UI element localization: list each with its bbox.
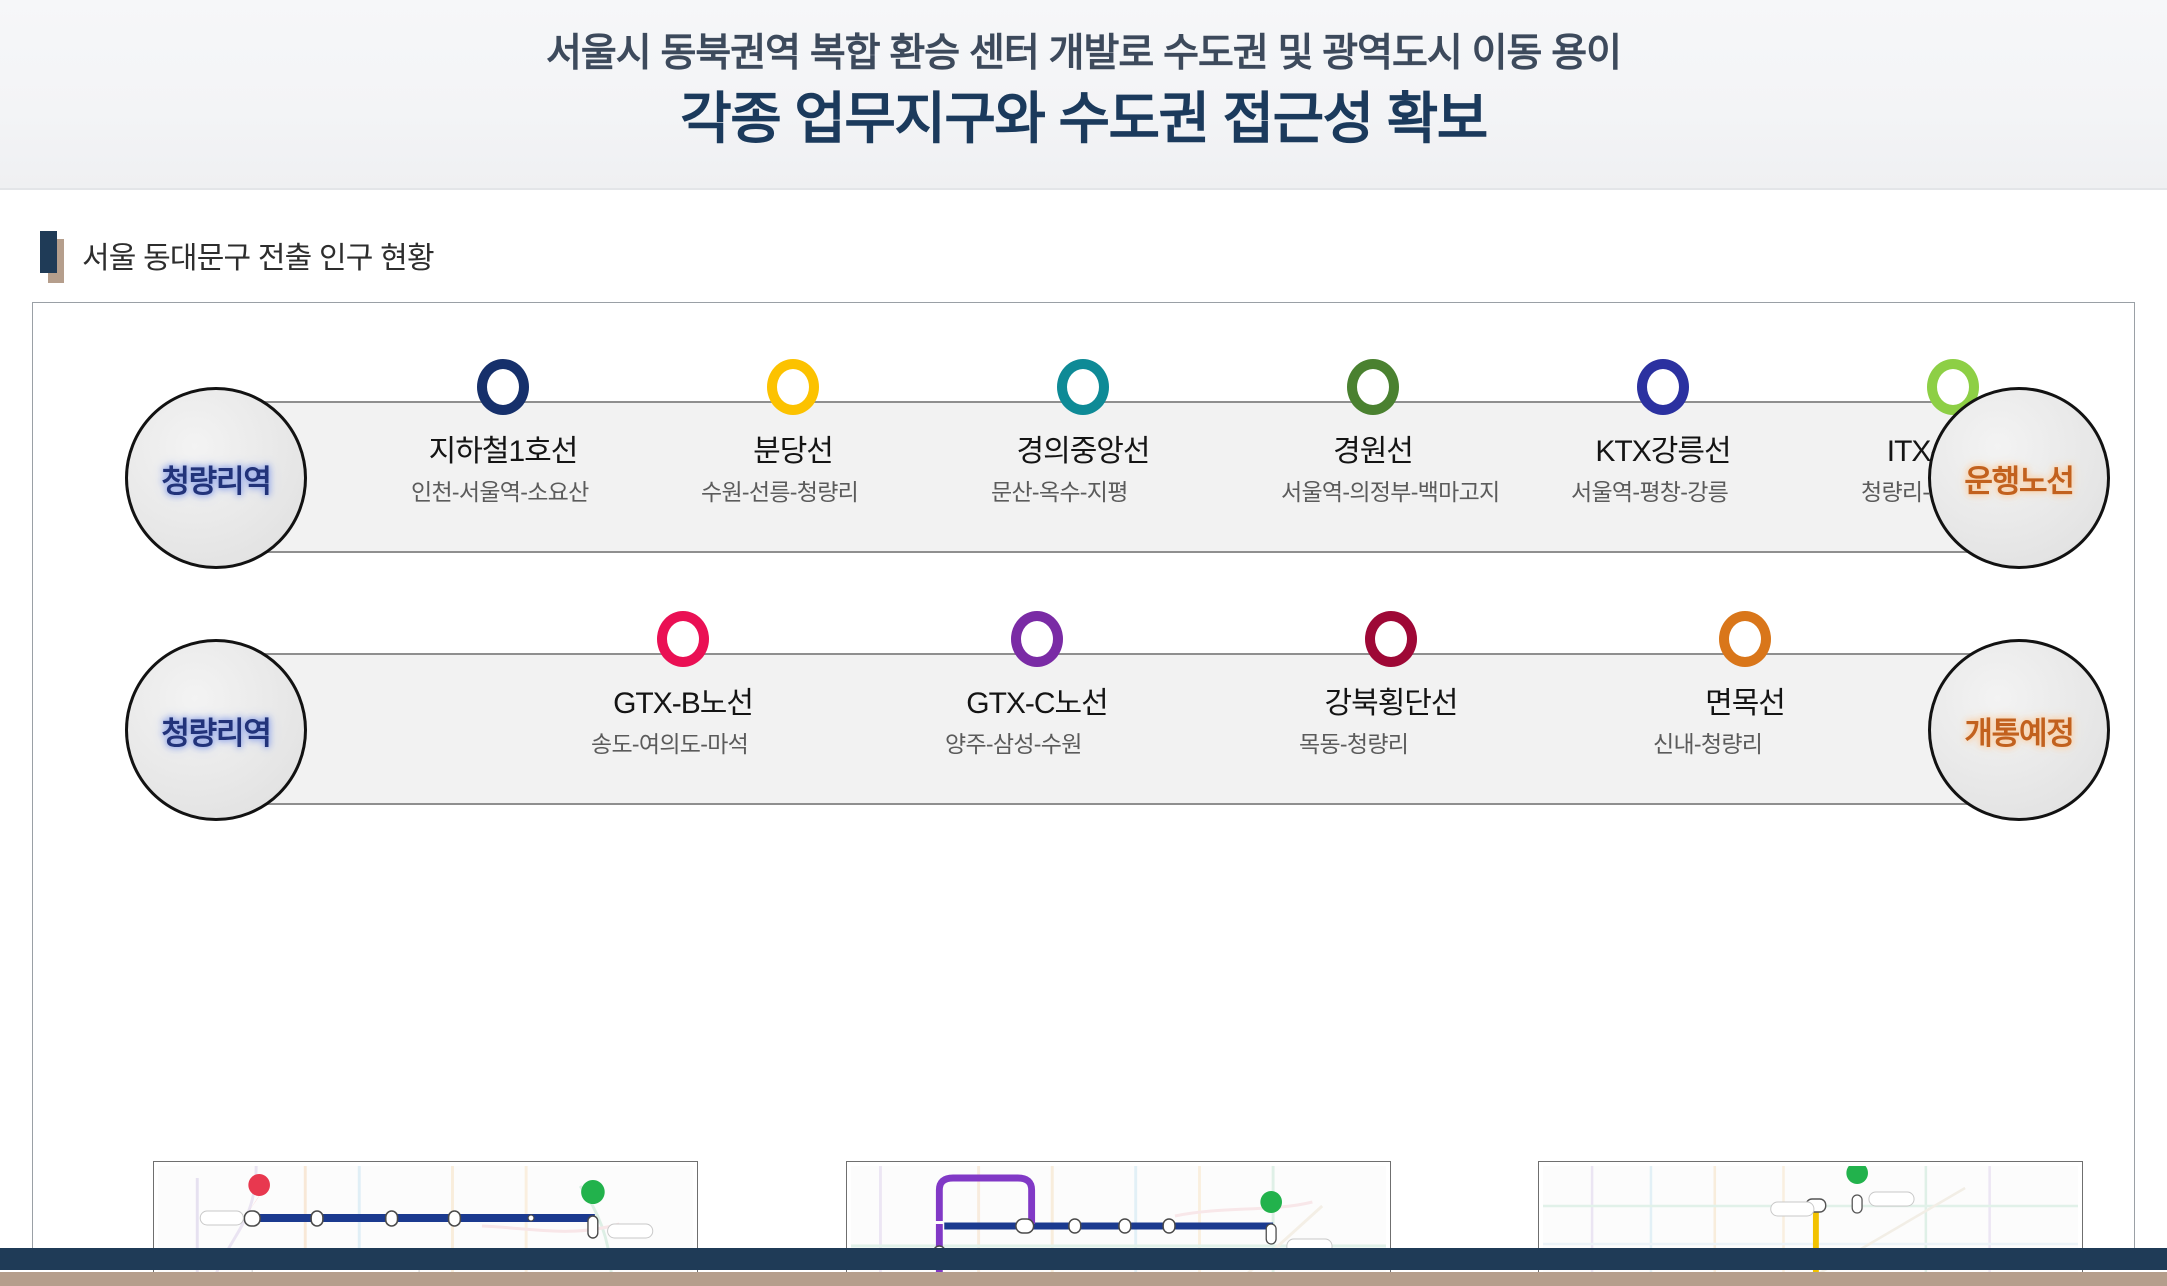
line-node-myeonmok[interactable]: 면목선 신내-청량리 bbox=[1595, 653, 1895, 759]
line-name: GTX-C노선 bbox=[887, 687, 1187, 720]
title-banner: 서울시 동북권역 복합 환승 센터 개발로 수도권 및 광역도시 이동 용이 각… bbox=[0, 0, 2167, 190]
line-ring-icon bbox=[657, 611, 709, 667]
line-name: 면목선 bbox=[1595, 687, 1895, 720]
line-ring-icon bbox=[477, 359, 529, 415]
line-node-gtx-b[interactable]: GTX-B노선 송도-여의도-마석 bbox=[533, 653, 833, 759]
section-title: 서울 동대문구 전출 인구 현황 bbox=[82, 233, 434, 277]
line-route: 송도-여의도-마석 bbox=[533, 730, 833, 759]
row2-right-badge-label: 개통예정 bbox=[1964, 708, 2073, 753]
slide-root: 서울시 동북권역 복합 환승 센터 개발로 수도권 및 광역도시 이동 용이 각… bbox=[0, 0, 2167, 1286]
line-ring-icon bbox=[1011, 611, 1063, 667]
line-node-ktx-gangneung[interactable]: KTX강릉선 서울역-평창-강릉 bbox=[1513, 401, 1813, 507]
row1-right-badge-label: 운행노선 bbox=[1964, 456, 2073, 501]
line-name: 경원선 bbox=[1223, 435, 1523, 468]
row1-left-badge-label: 청량리역 bbox=[161, 456, 270, 501]
line-node-gyeongwon[interactable]: 경원선 서울역-의정부-백마고지 bbox=[1223, 401, 1523, 507]
line-route: 양주-삼성-수원 bbox=[887, 730, 1187, 759]
footer-navy-bar bbox=[0, 1248, 2167, 1270]
line-node-gyeongui-jungang[interactable]: 경의중앙선 문산-옥수-지평 bbox=[933, 401, 1233, 507]
line-name: GTX-B노선 bbox=[533, 687, 833, 720]
line-name: 분당선 bbox=[643, 435, 943, 468]
line-ring-icon bbox=[1365, 611, 1417, 667]
section-heading: 서울 동대문구 전출 인구 현황 bbox=[40, 228, 434, 282]
header-title: 각종 업무지구와 수도권 접근성 확보 bbox=[680, 90, 1487, 149]
row2-right-badge: 개통예정 bbox=[1928, 639, 2110, 821]
line-node-gtx-c[interactable]: GTX-C노선 양주-삼성-수원 bbox=[887, 653, 1187, 759]
header-subtitle: 서울시 동북권역 복합 환승 센터 개발로 수도권 및 광역도시 이동 용이 bbox=[546, 33, 1621, 76]
line-name: 강북횡단선 bbox=[1241, 687, 1541, 720]
line-node-gangbuk-crossline[interactable]: 강북횡단선 목동-청량리 bbox=[1241, 653, 1541, 759]
route-row-operating: 청량리역 지하철1호선 인천-서울역-소요산 분당선 수원-선릉-청량리 경의중… bbox=[125, 401, 2110, 561]
line-route: 서울역-평창-강릉 bbox=[1513, 478, 1813, 507]
section-marker-icon bbox=[40, 231, 64, 279]
line-node-subway1[interactable]: 지하철1호선 인천-서울역-소요산 bbox=[353, 401, 653, 507]
row1-right-badge: 운행노선 bbox=[1928, 387, 2110, 569]
line-route: 수원-선릉-청량리 bbox=[643, 478, 943, 507]
line-route: 문산-옥수-지평 bbox=[933, 478, 1233, 507]
route-row-planned: 청량리역 GTX-B노선 송도-여의도-마석 GTX-C노선 양주-삼성-수원 … bbox=[125, 653, 2110, 813]
line-route: 서울역-의정부-백마고지 bbox=[1223, 478, 1523, 507]
line-route: 목동-청량리 bbox=[1241, 730, 1541, 759]
line-name: KTX강릉선 bbox=[1513, 435, 1813, 468]
footer-tan-bar bbox=[0, 1272, 2167, 1286]
row1-left-badge: 청량리역 bbox=[125, 387, 307, 569]
line-route: 신내-청량리 bbox=[1595, 730, 1895, 759]
line-ring-icon bbox=[1347, 359, 1399, 415]
line-name: 지하철1호선 bbox=[353, 435, 653, 468]
marker-navy-bar bbox=[40, 231, 57, 273]
line-ring-icon bbox=[767, 359, 819, 415]
line-ring-icon bbox=[1057, 359, 1109, 415]
line-node-bundang[interactable]: 분당선 수원-선릉-청량리 bbox=[643, 401, 943, 507]
row2-left-badge-label: 청량리역 bbox=[161, 708, 270, 753]
line-ring-icon bbox=[1637, 359, 1689, 415]
content-panel: 청량리역 지하철1호선 인천-서울역-소요산 분당선 수원-선릉-청량리 경의중… bbox=[32, 302, 2135, 1260]
line-name: 경의중앙선 bbox=[933, 435, 1233, 468]
line-route: 인천-서울역-소요산 bbox=[353, 478, 653, 507]
line-ring-icon bbox=[1719, 611, 1771, 667]
row2-left-badge: 청량리역 bbox=[125, 639, 307, 821]
